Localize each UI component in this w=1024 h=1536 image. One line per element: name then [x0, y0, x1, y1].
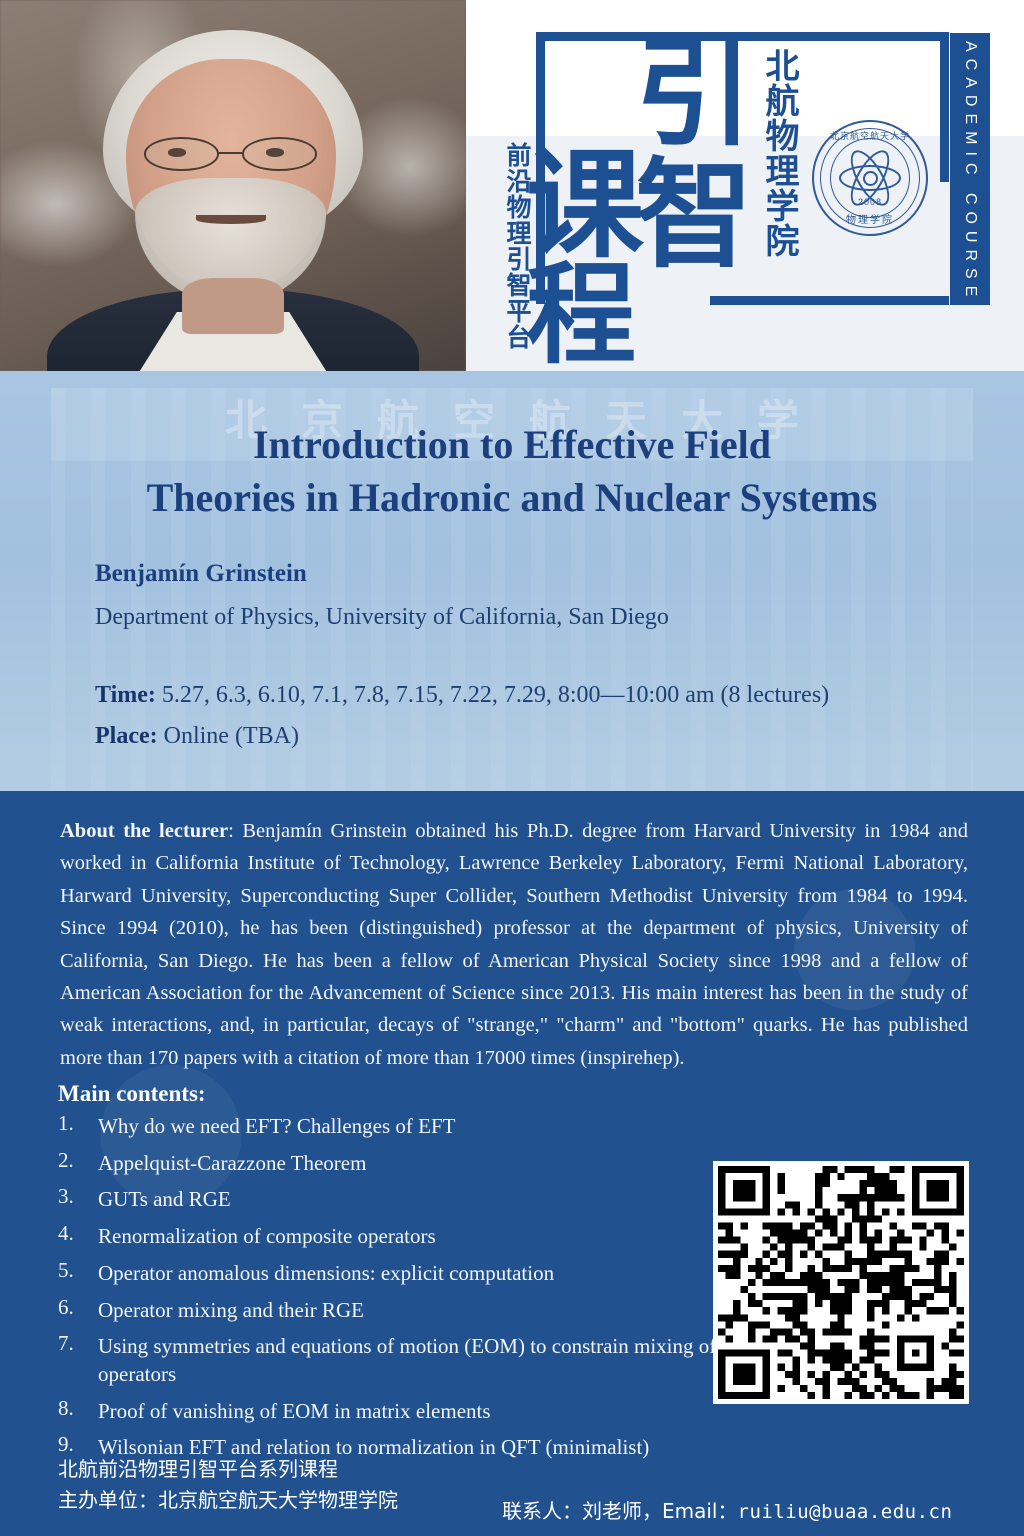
contact-label: 联系人：刘老师，Email： — [502, 1499, 738, 1523]
footer-line-1: 北航前沿物理引智平台系列课程 — [58, 1454, 398, 1485]
contents-item: 5.Operator anomalous dimensions: explici… — [58, 1260, 718, 1288]
contents-item-text: Proof of vanishing of EOM in matrix elem… — [98, 1398, 718, 1426]
qr-code-canvas — [718, 1166, 964, 1399]
contents-item-number: 8. — [58, 1398, 98, 1426]
lecturer-photo — [0, 0, 466, 371]
photo-eye-left — [168, 148, 187, 156]
time-row: Time: 5.27, 6.3, 6.10, 7.1, 7.8, 7.15, 7… — [95, 682, 829, 709]
seal-top-text: 北京航空航天大学 — [814, 129, 926, 142]
lecturer-bio: About the lecturer: Benjamín Grinstein o… — [60, 815, 968, 1074]
contents-item-text: Appelquist-Carazzone Theorem — [98, 1150, 718, 1178]
contents-item-text: Using symmetries and equations of motion… — [98, 1333, 718, 1388]
title-line-2: Theories in Hadronic and Nuclear Systems — [0, 472, 1024, 525]
footer-line-2: 主办单位：北京航空航天大学物理学院 — [58, 1485, 398, 1516]
contents-item-text: GUTs and RGE — [98, 1186, 718, 1214]
contents-item-number: 2. — [58, 1150, 98, 1178]
academic-course-badge: ACADEMIC COURSE — [950, 33, 990, 305]
brand-frame-right — [940, 32, 949, 182]
title-line-1: Introduction to Effective Field — [0, 419, 1024, 472]
contact-email[interactable]: ruiliu@buaa.edu.cn — [738, 1501, 953, 1523]
contents-item: 7.Using symmetries and equations of moti… — [58, 1333, 718, 1388]
contents-item-text: Renormalization of composite operators — [98, 1223, 718, 1251]
place-row: Place: Online (TBA) — [95, 723, 299, 750]
contents-item-text: Operator anomalous dimensions: explicit … — [98, 1260, 718, 1288]
photo-eye-right — [266, 148, 285, 156]
brand-subtitle-vertical: 前沿物理引智平台 — [505, 142, 530, 350]
atom-nucleus — [863, 171, 878, 186]
brand-char-yin: 引 — [635, 36, 753, 152]
brand-char-cheng: 程 — [526, 262, 636, 370]
footer-text: 北航前沿物理引智平台系列课程 主办单位：北京航空航天大学物理学院 — [58, 1454, 398, 1516]
header-band: 引 智 课 程 前沿物理引智平台 北航物理学院 北京航空航天大学 2008 物理… — [0, 0, 1024, 371]
contents-item: 8.Proof of vanishing of EOM in matrix el… — [58, 1398, 718, 1426]
contents-item: 3.GUTs and RGE — [58, 1186, 718, 1214]
bio-heading: About the lecturer — [60, 820, 228, 842]
contents-item: 1.Why do we need EFT? Challenges of EFT — [58, 1113, 718, 1141]
contents-item-number: 1. — [58, 1113, 98, 1141]
seal-bottom-text: 物理学院 — [814, 211, 926, 226]
contents-item-number: 7. — [58, 1333, 98, 1388]
seal-year: 2008 — [814, 197, 926, 207]
brand-char-ke: 课 — [526, 148, 644, 264]
page-title: Introduction to Effective Field Theories… — [0, 419, 1024, 525]
contents-list: 1.Why do we need EFT? Challenges of EFT2… — [58, 1113, 718, 1471]
hero-section: 北京航空航天大学 Introduction to Effective Field… — [0, 371, 1024, 791]
time-label: Time: — [95, 682, 156, 708]
time-value: 5.27, 6.3, 6.10, 7.1, 7.8, 7.15, 7.22, 7… — [162, 682, 829, 708]
contents-heading: Main contents: — [58, 1081, 206, 1107]
photo-neck — [182, 278, 285, 334]
bio-separator: : — [228, 820, 242, 842]
contents-item-text: Why do we need EFT? Challenges of EFT — [98, 1113, 718, 1141]
bio-text: Benjamín Grinstein obtained his Ph.D. de… — [60, 820, 968, 1069]
contents-item-number: 3. — [58, 1186, 98, 1214]
photo-mouth — [196, 215, 266, 224]
photo-glasses-bridge — [219, 152, 242, 154]
contents-item: 6.Operator mixing and their RGE — [58, 1297, 718, 1325]
place-label: Place: — [95, 723, 158, 749]
speaker-affiliation: Department of Physics, University of Cal… — [95, 604, 669, 631]
qr-code[interactable] — [713, 1161, 969, 1404]
contents-item-number: 5. — [58, 1260, 98, 1288]
brand-char-zhi: 智 — [635, 158, 753, 274]
department-name-vertical: 北航物理学院 — [762, 48, 796, 258]
brand-frame-bottom — [710, 296, 949, 305]
place-value: Online (TBA) — [164, 723, 299, 749]
contents-item-number: 6. — [58, 1297, 98, 1325]
contents-item: 2.Appelquist-Carazzone Theorem — [58, 1150, 718, 1178]
contents-item-number: 4. — [58, 1223, 98, 1251]
contents-item: 4.Renormalization of composite operators — [58, 1223, 718, 1251]
speaker-name: Benjamín Grinstein — [95, 560, 307, 588]
buaa-physics-seal-icon: 北京航空航天大学 2008 物理学院 — [812, 120, 928, 236]
footer-contact: 联系人：刘老师，Email：ruiliu@buaa.edu.cn — [502, 1495, 952, 1524]
poster-root: 引 智 课 程 前沿物理引智平台 北航物理学院 北京航空航天大学 2008 物理… — [0, 0, 1024, 1536]
contents-item-text: Operator mixing and their RGE — [98, 1297, 718, 1325]
